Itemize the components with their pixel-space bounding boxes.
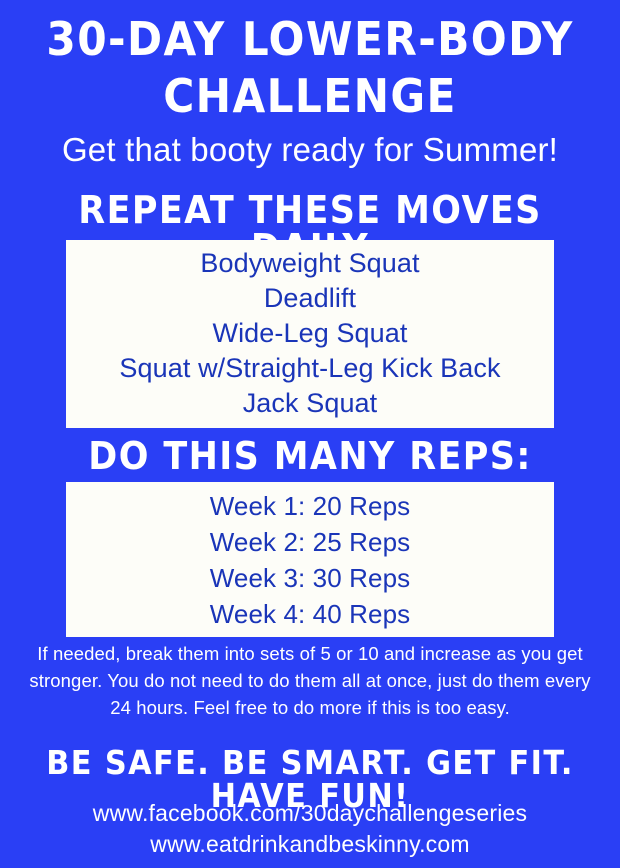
- moves-panel: Bodyweight Squat Deadlift Wide-Leg Squat…: [66, 240, 554, 428]
- fineprint-text: If needed, break them into sets of 5 or …: [18, 640, 602, 721]
- move-item: Wide-Leg Squat: [66, 316, 554, 351]
- footer-links: www.facebook.com/30daychallengeseries ww…: [0, 798, 620, 860]
- reps-item: Week 1: 20 Reps: [66, 488, 554, 524]
- poster-title: 30-DAY LOWER-BODY CHALLENGE: [0, 16, 620, 119]
- title-line-1: 30-DAY LOWER-BODY: [25, 16, 595, 62]
- poster-root: 30-DAY LOWER-BODY CHALLENGE Get that boo…: [0, 0, 620, 868]
- reps-item: Week 4: 40 Reps: [66, 596, 554, 632]
- move-item: Squat w/Straight-Leg Kick Back: [66, 351, 554, 386]
- title-line-2: CHALLENGE: [25, 73, 595, 119]
- move-item: Deadlift: [66, 281, 554, 316]
- reps-section-heading: DO THIS MANY REPS:: [25, 437, 595, 475]
- move-item: Bodyweight Squat: [66, 246, 554, 281]
- reps-panel: Week 1: 20 Reps Week 2: 25 Reps Week 3: …: [66, 482, 554, 637]
- reps-item: Week 2: 25 Reps: [66, 524, 554, 560]
- reps-item: Week 3: 30 Reps: [66, 560, 554, 596]
- move-item: Jack Squat: [66, 386, 554, 421]
- facebook-link[interactable]: www.facebook.com/30daychallengeseries: [0, 798, 620, 829]
- website-link[interactable]: www.eatdrinkandbeskinny.com: [0, 829, 620, 860]
- poster-subtitle: Get that booty ready for Summer!: [0, 133, 620, 166]
